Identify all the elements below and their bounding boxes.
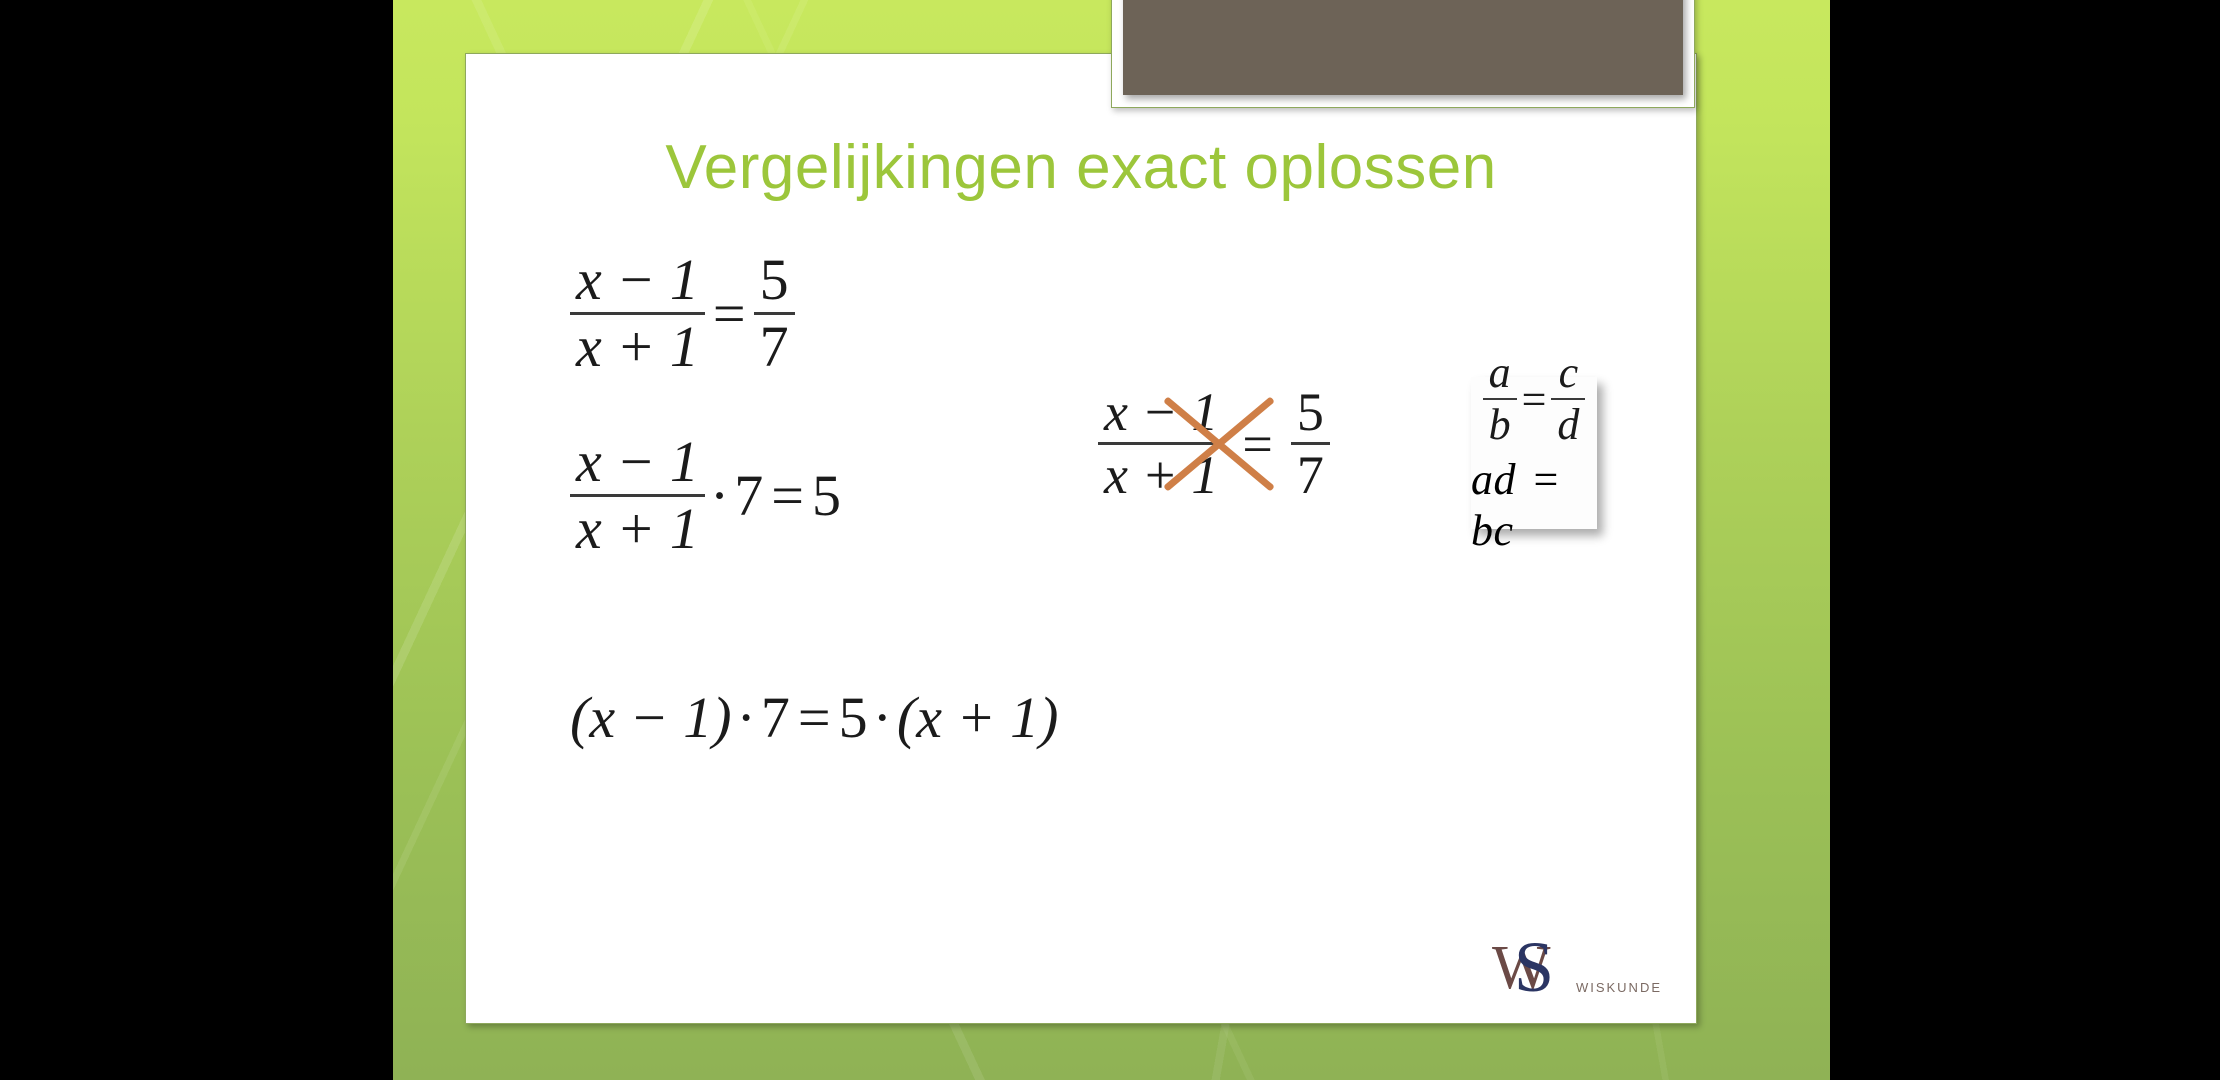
logo: W S WISKUNDE bbox=[1492, 931, 1662, 1005]
cross-denominator: x + 1 bbox=[1098, 445, 1224, 503]
equation-1-denominator: x + 1 bbox=[570, 315, 705, 377]
cross-multiplication-illustration: x − 1 x + 1 = 5 7 bbox=[1098, 384, 1330, 503]
cross-relation: = bbox=[1224, 413, 1290, 475]
equation-2-numerator: x − 1 bbox=[570, 432, 705, 494]
equation-2-relation: = bbox=[763, 462, 812, 529]
equation-2-multiplier: 7 bbox=[734, 462, 763, 529]
cross-right-denominator: 7 bbox=[1291, 445, 1330, 503]
rule-card: a b = c d ad = bc bbox=[1471, 377, 1597, 529]
logo-caption: WISKUNDE bbox=[1576, 980, 1662, 1005]
rule-bc: bc bbox=[1471, 506, 1514, 555]
equation-3-right-factor: 5 bbox=[839, 684, 868, 751]
equation-2-denominator: x + 1 bbox=[570, 497, 705, 559]
slide-title: Vergelijkingen exact oplossen bbox=[466, 132, 1696, 203]
rule-line2-relation: = bbox=[1528, 455, 1565, 504]
cross-left-fraction: x − 1 x + 1 bbox=[1098, 384, 1224, 503]
equation-1-numerator: x − 1 bbox=[570, 250, 705, 312]
equation-3: (x − 1) · 7 = 5 · (x + 1) bbox=[570, 684, 1058, 751]
slide-canvas: Vergelijkingen exact oplossen x − 1 x + … bbox=[465, 53, 1697, 1024]
rule-right-fraction: c d bbox=[1551, 350, 1585, 448]
equation-3-left-factor: 7 bbox=[761, 684, 790, 751]
equation-2-fraction: x − 1 x + 1 bbox=[570, 432, 705, 560]
equation-2-multiply-operator: · bbox=[705, 462, 734, 529]
rule-b: b bbox=[1483, 400, 1517, 448]
logo-letter-s: S bbox=[1514, 931, 1554, 1003]
equation-2-result: 5 bbox=[812, 462, 841, 529]
equation-3-left-operator: · bbox=[732, 684, 761, 751]
equation-3-left-group: (x − 1) bbox=[570, 684, 732, 751]
rule-a: a bbox=[1483, 350, 1517, 398]
screen: Vergelijkingen exact oplossen x − 1 x + … bbox=[0, 0, 2220, 1080]
equation-1-relation: = bbox=[705, 280, 754, 347]
cross-right-numerator: 5 bbox=[1291, 384, 1330, 442]
rule-c: c bbox=[1553, 350, 1585, 398]
equation-1-right-numerator: 5 bbox=[754, 250, 795, 312]
equation-1-left-fraction: x − 1 x + 1 bbox=[570, 250, 705, 378]
rule-relation: = bbox=[1517, 374, 1552, 425]
equation-3-right-group: (x + 1) bbox=[897, 684, 1059, 751]
rule-d: d bbox=[1551, 400, 1585, 448]
equation-3-right-operator: · bbox=[868, 684, 897, 751]
equation-1-right-denominator: 7 bbox=[754, 315, 795, 377]
equation-2: x − 1 x + 1 · 7 = 5 bbox=[570, 432, 841, 560]
presentation-viewport: Vergelijkingen exact oplossen x − 1 x + … bbox=[393, 0, 1830, 1080]
rule-left-fraction: a b bbox=[1483, 350, 1517, 448]
rule-card-line-2: ad = bc bbox=[1471, 454, 1597, 556]
ws-monogram-icon: W S bbox=[1492, 931, 1570, 1005]
rule-card-line-1: a b = c d bbox=[1483, 350, 1586, 448]
equation-1-right-fraction: 5 7 bbox=[754, 250, 795, 378]
equation-1: x − 1 x + 1 = 5 7 bbox=[570, 250, 795, 378]
cross-numerator: x − 1 bbox=[1098, 384, 1224, 442]
cross-right-fraction: 5 7 bbox=[1291, 384, 1330, 503]
empty-content-box bbox=[1123, 0, 1683, 95]
equation-3-relation: = bbox=[790, 684, 839, 751]
rule-ad: ad bbox=[1471, 455, 1516, 504]
top-placeholder-frame bbox=[1111, 0, 1695, 108]
